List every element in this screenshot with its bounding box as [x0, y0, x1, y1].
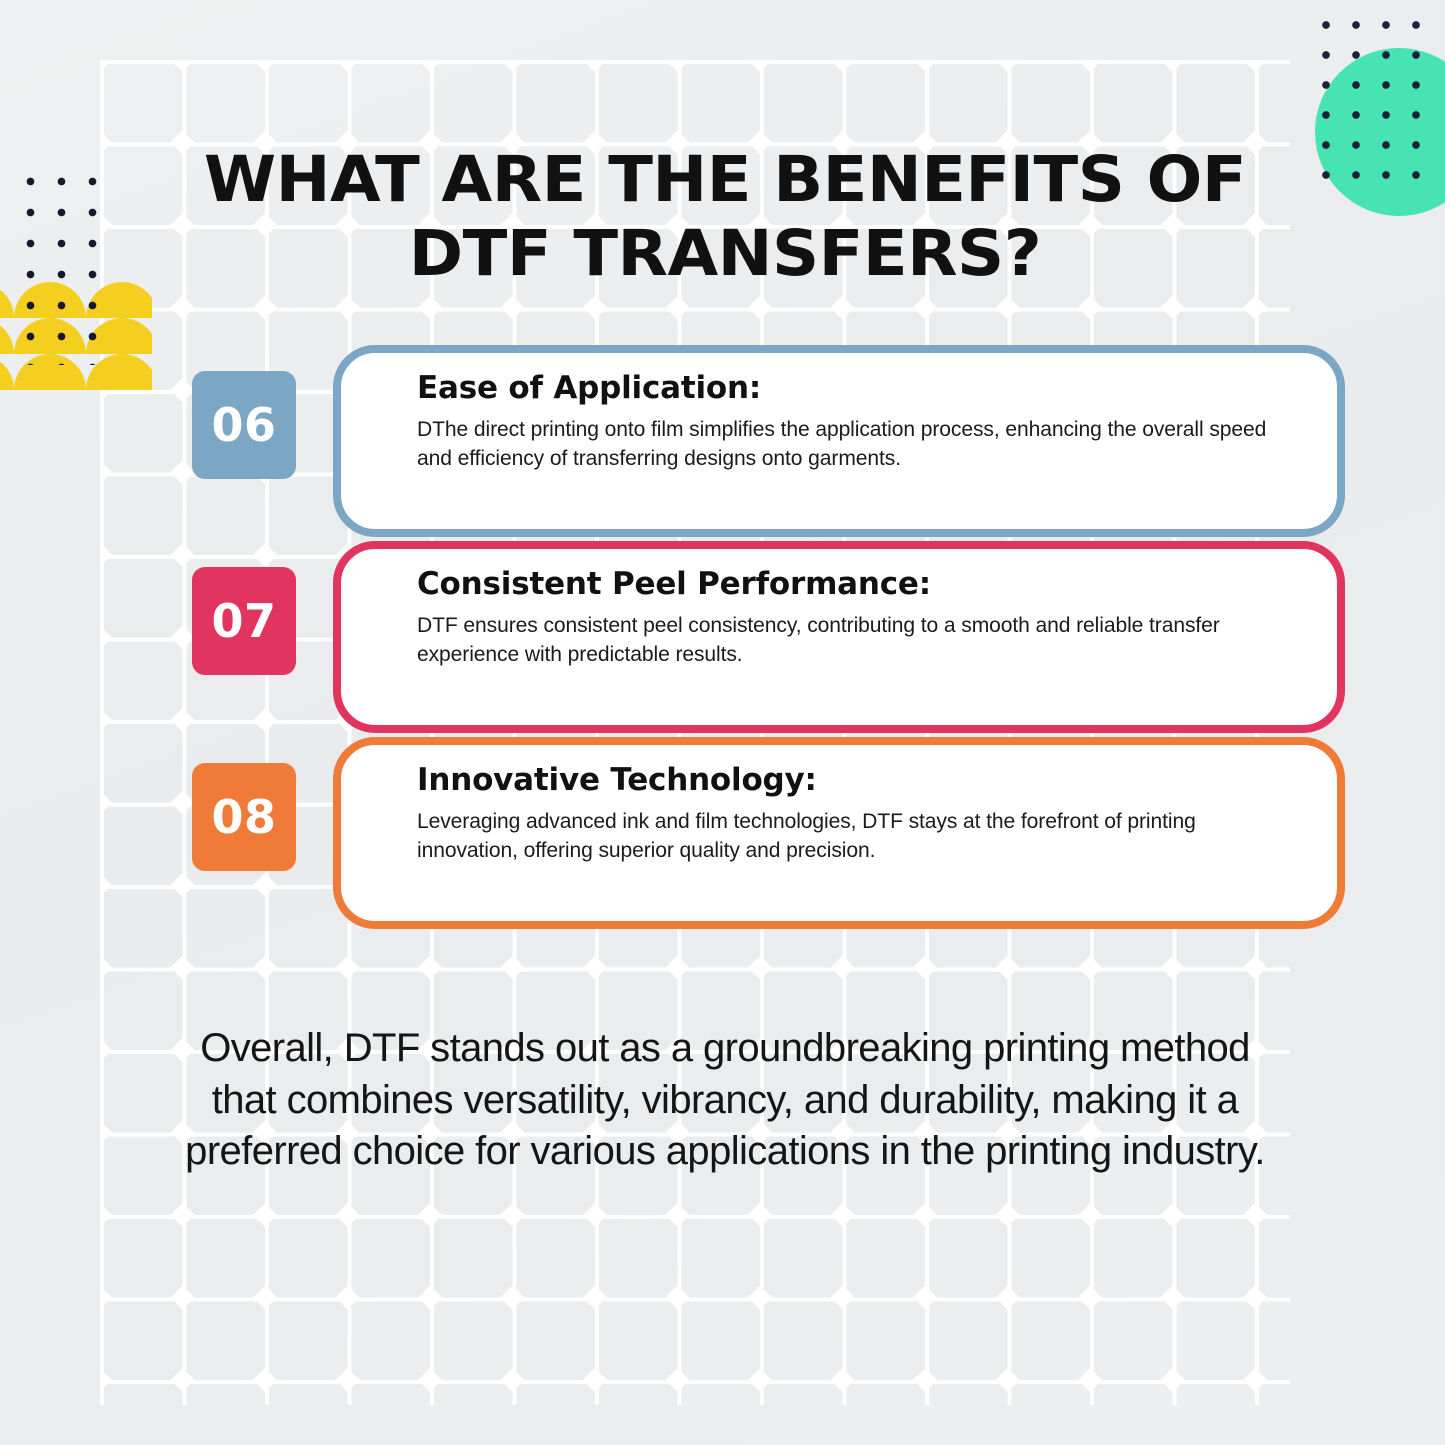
benefit-body: DTF ensures consistent peel consistency,…	[417, 611, 1293, 670]
benefit-panel: Innovative Technology: Leveraging advanc…	[333, 737, 1345, 929]
benefit-heading: Innovative Technology:	[417, 763, 1311, 798]
benefit-heading: Ease of Application:	[417, 371, 1311, 406]
benefit-panel: Consistent Peel Performance: DTF ensures…	[333, 541, 1345, 733]
summary-paragraph: Overall, DTF stands out as a groundbreak…	[175, 1023, 1275, 1178]
benefit-number-badge: 06	[192, 371, 296, 479]
dot-grid-left-decoration	[10, 160, 102, 365]
benefit-panel: Ease of Application: DThe direct printin…	[333, 345, 1345, 537]
benefit-list: Ease of Application: DThe direct printin…	[0, 339, 1445, 927]
benefit-heading: Consistent Peel Performance:	[417, 567, 1311, 602]
benefit-body: Leveraging advanced ink and film technol…	[417, 807, 1293, 866]
benefit-item: Innovative Technology: Leveraging advanc…	[0, 731, 1445, 927]
benefit-item: Ease of Application: DThe direct printin…	[0, 339, 1445, 535]
benefit-number-badge: 07	[192, 567, 296, 675]
dot-grid-top-right-decoration	[1307, 4, 1437, 179]
benefit-item: Consistent Peel Performance: DTF ensures…	[0, 535, 1445, 731]
page-title: WHAT ARE THE BENEFITS OF DTF TRANSFERS?	[127, 143, 1323, 290]
infographic-poster: WHAT ARE THE BENEFITS OF DTF TRANSFERS? …	[0, 0, 1445, 1445]
benefit-body: DThe direct printing onto film simplifie…	[417, 415, 1293, 474]
benefit-number-badge: 08	[192, 763, 296, 871]
